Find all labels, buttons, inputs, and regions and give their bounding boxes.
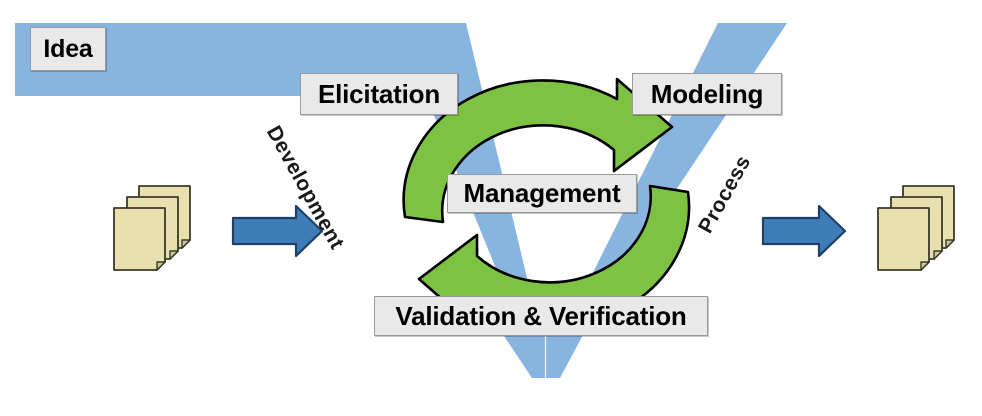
document-page-front (878, 208, 929, 270)
label-box-modeling[interactable]: Modeling (632, 73, 782, 115)
label-box-validation-verification[interactable]: Validation & Verification (374, 296, 708, 336)
label-box-management[interactable]: Management (447, 174, 637, 213)
right-document-stack[interactable] (878, 186, 954, 270)
left-document-stack[interactable] (114, 186, 190, 270)
label-box-idea[interactable]: Idea (30, 27, 106, 71)
document-page-front (114, 208, 165, 270)
right-flow-arrow[interactable] (763, 206, 845, 256)
label-box-elicitation[interactable]: Elicitation (300, 73, 458, 115)
diagram-canvas: Development Process Idea Elicitation Mod… (0, 0, 982, 416)
